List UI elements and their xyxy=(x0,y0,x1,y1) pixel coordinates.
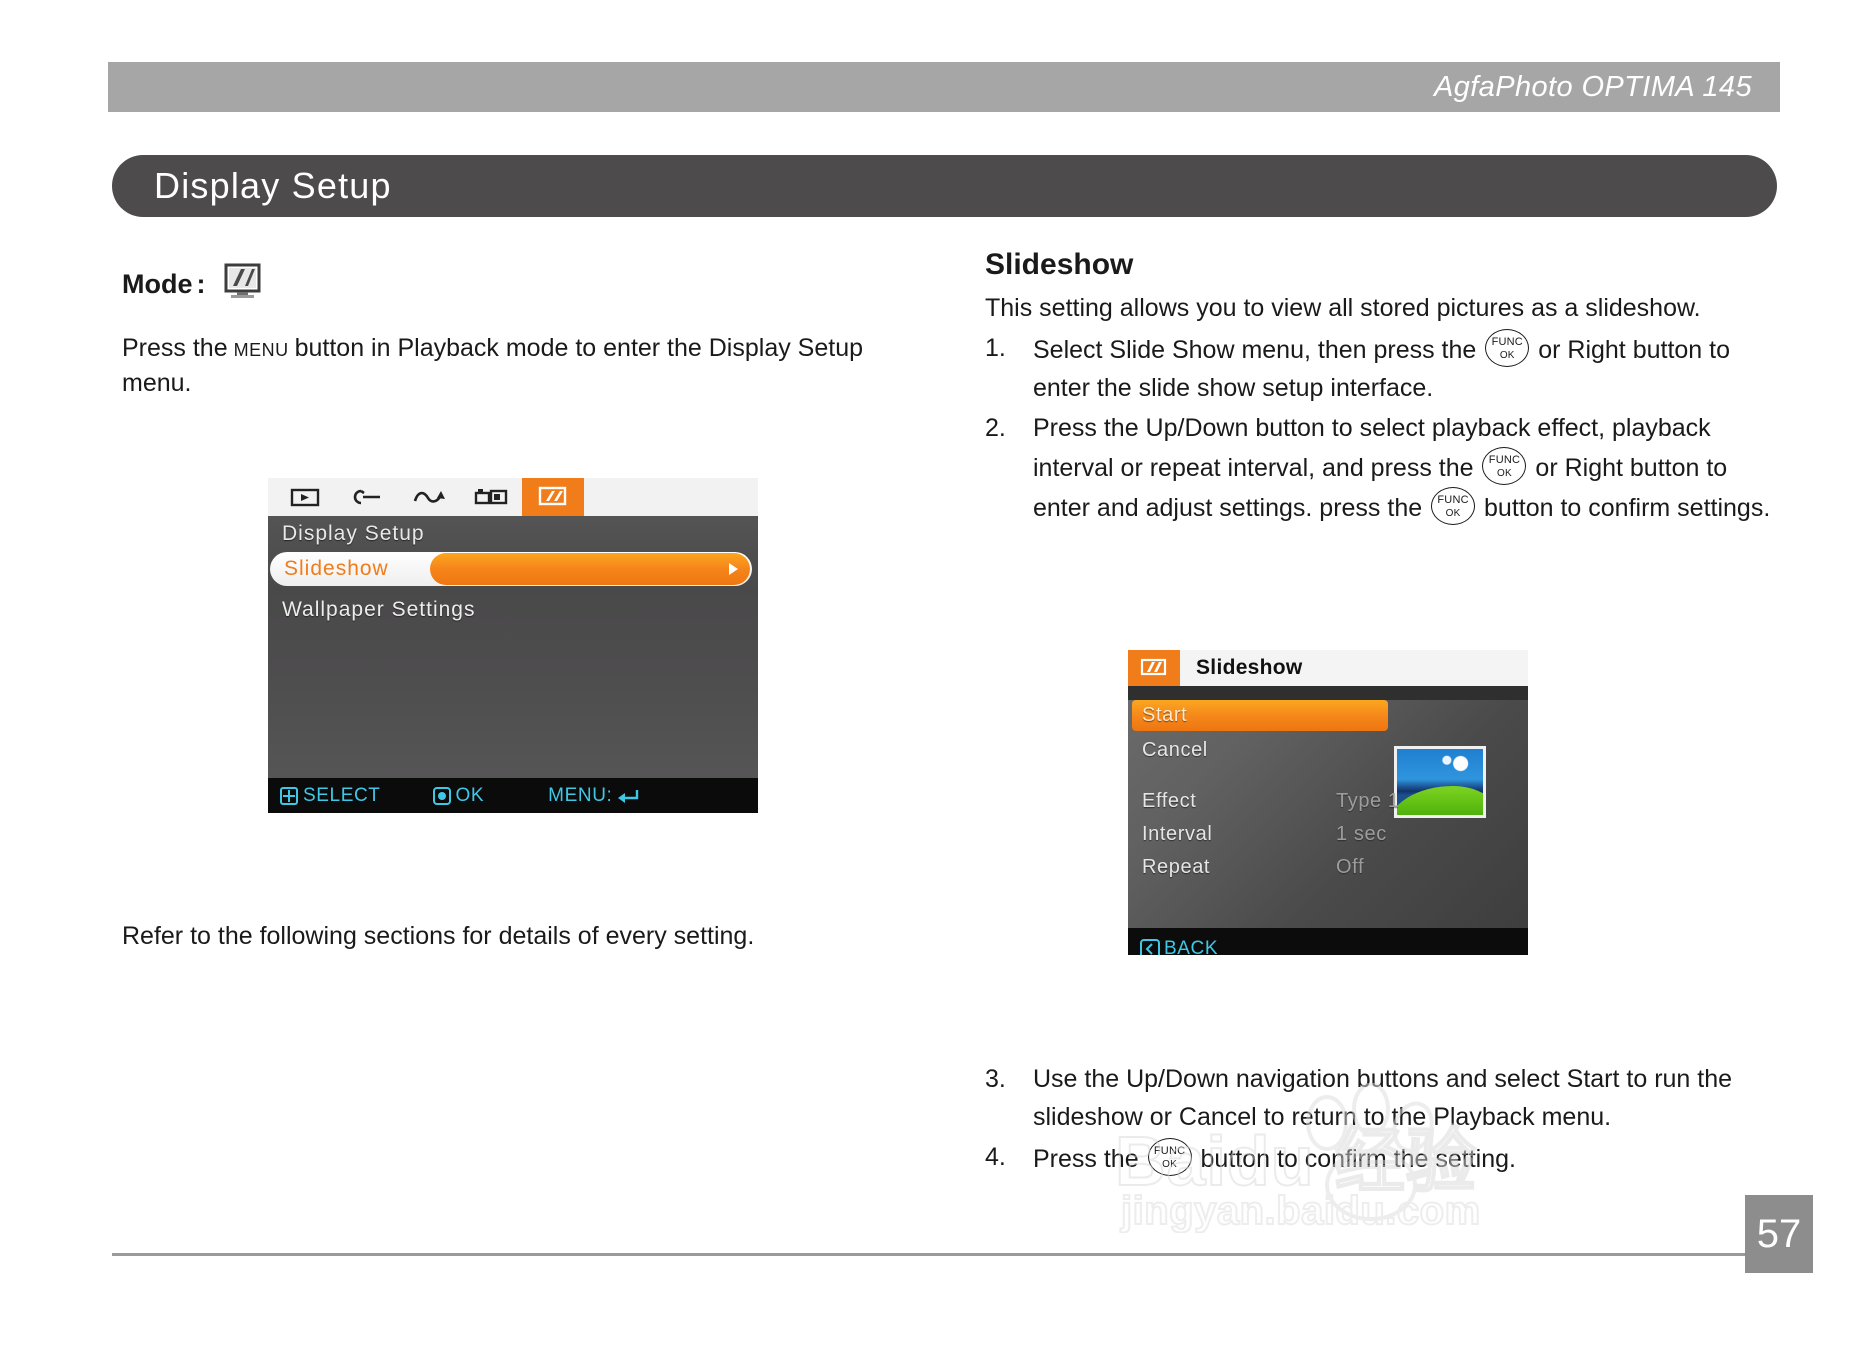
func-label: FUNC xyxy=(1483,455,1525,466)
display-setup-icon xyxy=(538,486,568,508)
product-title: AgfaPhoto OPTIMA 145 xyxy=(1434,71,1780,104)
page-title: Display Setup xyxy=(112,165,392,207)
lcd-menu-heading: Display Setup xyxy=(268,516,758,546)
slideshow-screenshot: Slideshow Start Cancel Effect Type 1 Int… xyxy=(1128,650,1528,955)
step-text-part-1: Select Slide Show menu, then press the xyxy=(1033,336,1476,364)
ok-button-icon xyxy=(433,787,451,805)
func-ok-button-icon: FUNC OK xyxy=(1431,487,1475,525)
lcd-menu-item-label: Wallpaper Settings xyxy=(268,598,475,622)
func-label: FUNC xyxy=(1486,337,1528,348)
list-item: 1. Select Slide Show menu, then press th… xyxy=(985,329,1775,407)
footer-menu-label: MENU: xyxy=(548,785,612,807)
step-text-part-2: button to confirm the setting. xyxy=(1201,1145,1516,1173)
lcd-menu-item-slideshow[interactable]: Slideshow xyxy=(270,552,752,586)
section-title-banner: Display Setup xyxy=(112,155,1777,217)
footer-menu: MENU: xyxy=(548,785,639,807)
step-text-part-3: button to confirm settings. xyxy=(1484,494,1770,522)
footer-ok: OK xyxy=(433,785,485,807)
lcd-footer-bar: SELECT OK MENU: xyxy=(268,778,758,813)
row-label: Start xyxy=(1132,704,1187,727)
left-column: Mode : Press theMENUbutton in Playback m… xyxy=(122,262,912,400)
slideshow-row-interval[interactable]: Interval 1 sec xyxy=(1128,818,1528,851)
list-item: 3. Use the Up/Down navigation buttons an… xyxy=(985,1060,1775,1136)
refer-paragraph: Refer to the following sections for deta… xyxy=(122,920,922,953)
slideshow-title-bar: Slideshow xyxy=(1128,650,1528,686)
footer-select: SELECT xyxy=(280,785,381,807)
watermark-line-2: jingyan.baidu.com xyxy=(1121,1189,1481,1234)
film-camera-icon xyxy=(473,487,509,507)
lcd-menu-body: Display Setup Slideshow Wallpaper Settin… xyxy=(268,516,758,778)
slideshow-row-effect[interactable]: Effect Type 1 xyxy=(1128,785,1528,818)
row-label: Repeat xyxy=(1128,856,1210,879)
step-number: 3. xyxy=(985,1060,1025,1098)
step-number: 2. xyxy=(985,409,1025,447)
lcd-menu-item-wallpaper-settings[interactable]: Wallpaper Settings xyxy=(268,592,758,628)
row-label: Effect xyxy=(1128,790,1196,813)
footer-divider xyxy=(112,1253,1780,1256)
row-value: 1 sec xyxy=(1336,823,1387,846)
func-label: FUNC xyxy=(1149,1146,1191,1157)
slideshow-dialog-title: Slideshow xyxy=(1180,656,1303,680)
list-item: 2. Press the Up/Down button to select pl… xyxy=(985,409,1775,527)
row-value: Off xyxy=(1336,856,1364,879)
lcd-tab-bar xyxy=(268,478,758,516)
mode-line: Mode : xyxy=(122,262,912,306)
page-number-badge: 57 xyxy=(1745,1195,1813,1273)
return-arrow-icon xyxy=(617,787,639,805)
slideshow-steps-list-continued: 3. Use the Up/Down navigation buttons an… xyxy=(985,1060,1775,1178)
step-text-part-1: Press the xyxy=(1033,1145,1139,1173)
slideshow-body: Start Cancel Effect Type 1 Interval 1 se… xyxy=(1128,700,1528,928)
right-column: Slideshow This setting allows you to vie… xyxy=(985,248,1775,529)
footer-ok-label: OK xyxy=(456,785,485,807)
back-label: BACK xyxy=(1164,938,1218,956)
selection-bar xyxy=(430,553,750,585)
playback-tab xyxy=(274,478,336,516)
page-number: 57 xyxy=(1757,1214,1802,1254)
menu-button-label: MENU xyxy=(228,340,295,360)
row-label: Interval xyxy=(1128,823,1212,846)
ok-label: OK xyxy=(1432,508,1474,519)
list-item: 4. Press the FUNC OK button to confirm t… xyxy=(985,1138,1775,1178)
step-number: 4. xyxy=(985,1138,1025,1176)
display-setup-icon xyxy=(224,263,264,306)
row-label: Cancel xyxy=(1128,739,1208,762)
display-tab xyxy=(522,478,584,516)
step-number: 1. xyxy=(985,329,1025,367)
page-header-bar: AgfaPhoto OPTIMA 145 xyxy=(108,62,1780,112)
slideshow-row-repeat[interactable]: Repeat Off xyxy=(1128,851,1528,884)
wrench-icon xyxy=(350,487,384,507)
slideshow-row-cancel[interactable]: Cancel xyxy=(1128,734,1528,767)
instruction-part-1: Press the xyxy=(122,334,228,362)
step-text-part-1: Use the Up/Down navigation buttons and s… xyxy=(1033,1065,1732,1131)
ok-label: OK xyxy=(1483,468,1525,479)
setup-tab xyxy=(336,478,398,516)
display-setup-icon xyxy=(1128,650,1180,686)
footer-select-label: SELECT xyxy=(303,785,381,807)
playback-icon xyxy=(290,487,320,507)
ok-label: OK xyxy=(1486,350,1528,361)
four-way-select-icon xyxy=(280,787,298,805)
row-value: Type 1 xyxy=(1336,790,1400,813)
curve-tab xyxy=(398,478,460,516)
back-chevron-icon xyxy=(1140,939,1160,956)
lcd-menu-item-label: Slideshow xyxy=(270,557,389,581)
slideshow-intro: This setting allows you to view all stor… xyxy=(985,292,1775,325)
mode-instruction-paragraph: Press theMENUbutton in Playback mode to … xyxy=(122,332,912,400)
curve-arrow-icon xyxy=(412,487,446,507)
func-ok-button-icon: FUNC OK xyxy=(1482,447,1526,485)
slideshow-footer-bar: BACK xyxy=(1128,928,1528,955)
func-label: FUNC xyxy=(1432,495,1474,506)
file-tab xyxy=(460,478,522,516)
func-ok-button-icon: FUNC OK xyxy=(1148,1138,1192,1176)
slideshow-row-start[interactable]: Start xyxy=(1132,700,1388,731)
right-column-steps-tail: 3. Use the Up/Down navigation buttons an… xyxy=(985,1058,1775,1180)
ok-label: OK xyxy=(1149,1159,1191,1170)
func-ok-button-icon: FUNC OK xyxy=(1485,329,1529,367)
display-setup-screenshot: Display Setup Slideshow Wallpaper Settin… xyxy=(268,478,758,813)
mode-colon: : xyxy=(197,269,206,300)
slideshow-steps-list: 1. Select Slide Show menu, then press th… xyxy=(985,329,1775,527)
slideshow-heading: Slideshow xyxy=(985,248,1775,282)
mode-label: Mode xyxy=(122,269,193,300)
